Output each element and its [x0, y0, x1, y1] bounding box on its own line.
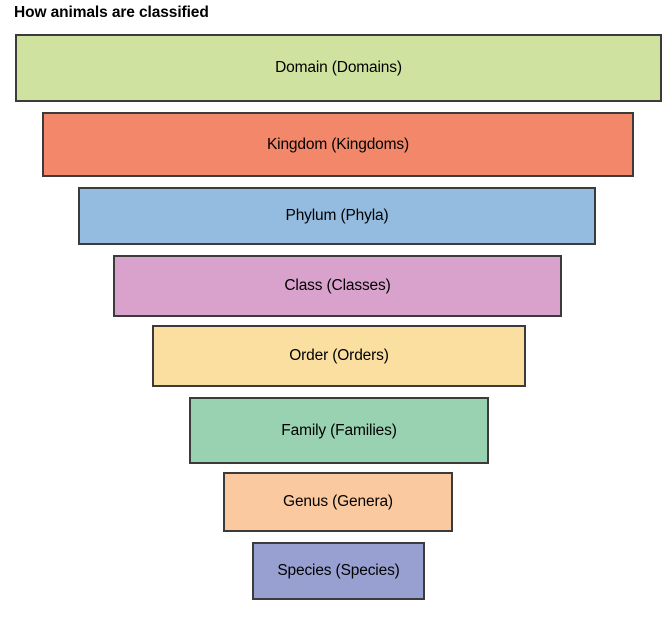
- rank-bar-kingdom[interactable]: Kingdom (Kingdoms): [42, 112, 634, 177]
- rank-bar-label: Class (Classes): [284, 278, 390, 294]
- rank-bar-species[interactable]: Species (Species): [252, 542, 425, 600]
- rank-bar-label: Species (Species): [277, 563, 399, 579]
- rank-bar-phylum[interactable]: Phylum (Phyla): [78, 187, 596, 245]
- rank-bar-order[interactable]: Order (Orders): [152, 325, 526, 387]
- rank-bar-label: Genus (Genera): [283, 494, 393, 510]
- page-title: How animals are classified: [14, 3, 209, 22]
- rank-bar-domain[interactable]: Domain (Domains): [15, 34, 662, 102]
- rank-bar-family[interactable]: Family (Families): [189, 397, 489, 464]
- rank-bar-label: Family (Families): [281, 423, 396, 439]
- classification-funnel-figure: How animals are classified Domain (Domai…: [0, 0, 672, 619]
- rank-bar-label: Domain (Domains): [275, 60, 402, 76]
- rank-bar-class[interactable]: Class (Classes): [113, 255, 562, 317]
- rank-bar-label: Order (Orders): [289, 348, 389, 364]
- rank-bar-label: Phylum (Phyla): [286, 208, 389, 224]
- rank-bar-label: Kingdom (Kingdoms): [267, 137, 409, 153]
- rank-bar-genus[interactable]: Genus (Genera): [223, 472, 453, 532]
